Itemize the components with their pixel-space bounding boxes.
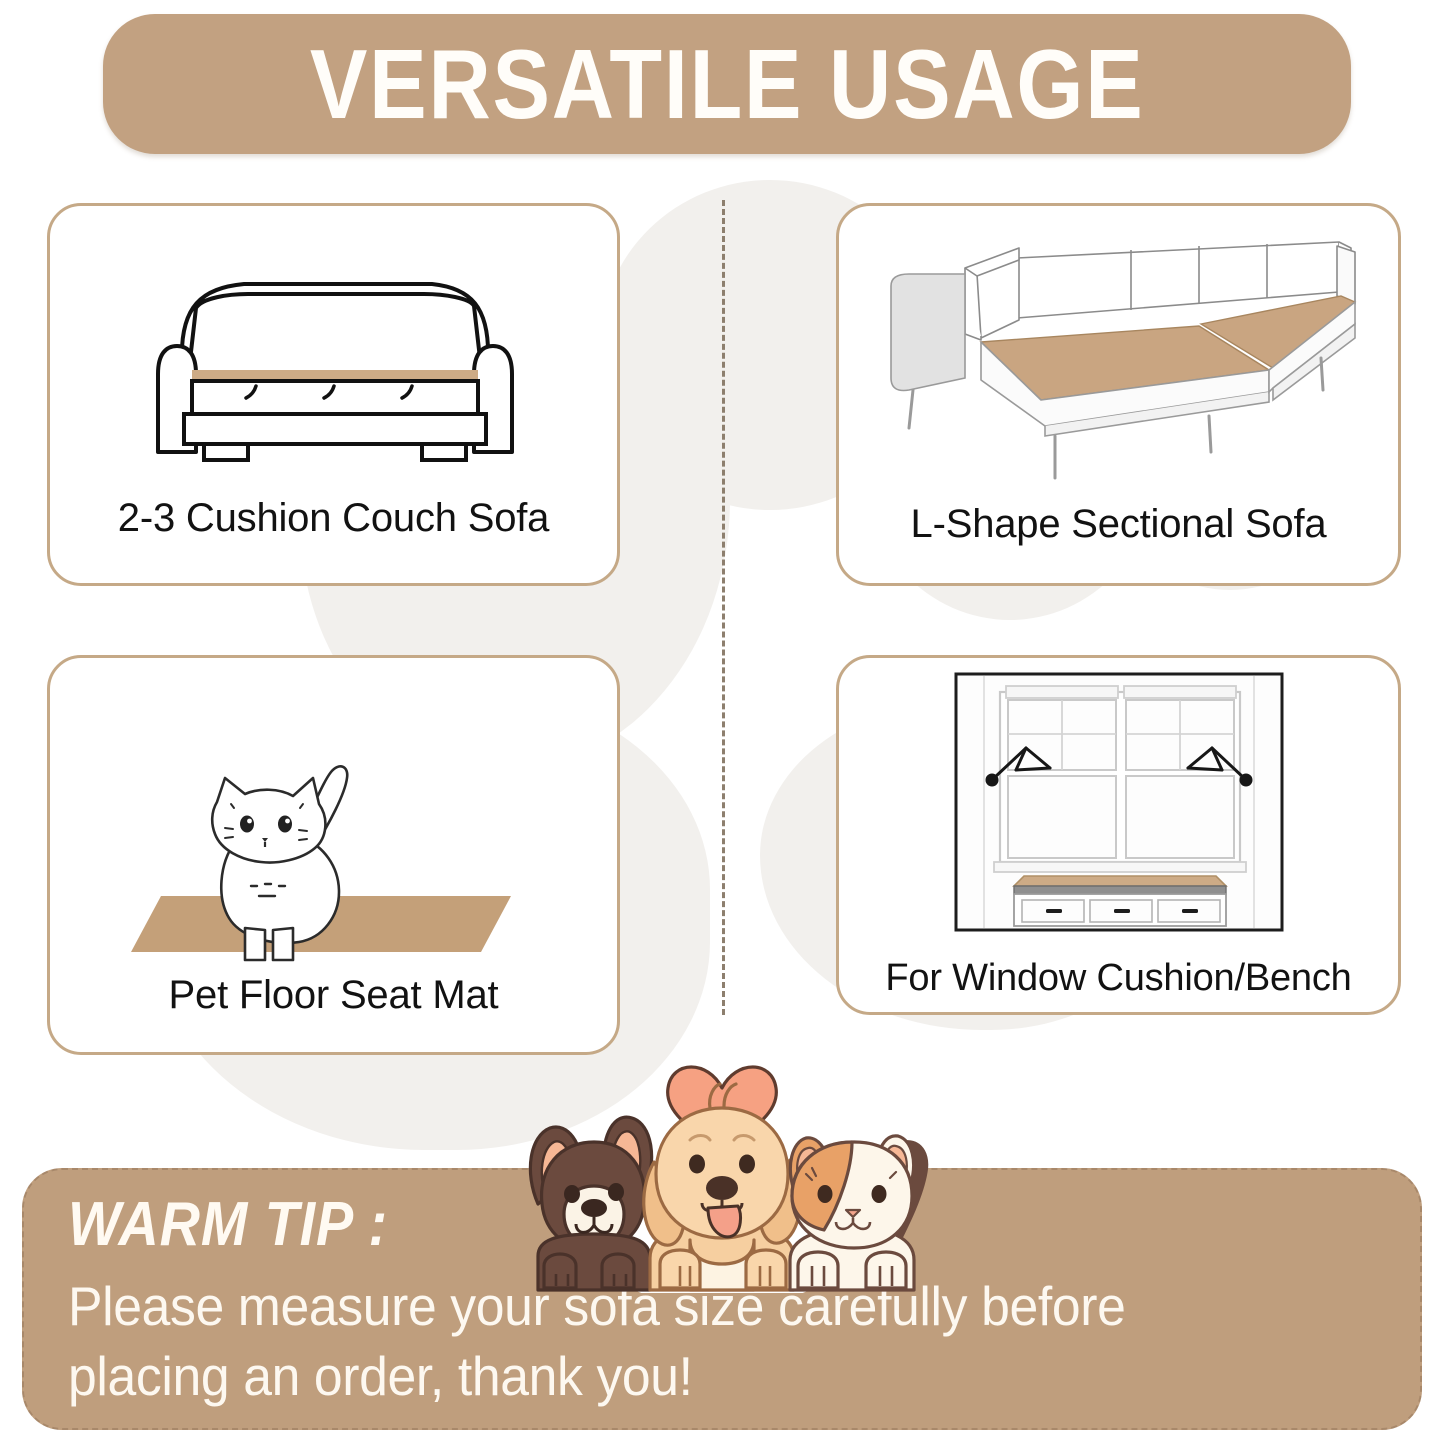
usage-card-l-shape-sectional[interactable]: L-Shape Sectional Sofa xyxy=(836,203,1401,586)
warm-tip-heading: WARM TIP : xyxy=(68,1192,1245,1257)
infographic-page: VERSATILE USAGE xyxy=(0,0,1445,1447)
card-label: For Window Cushion/Bench xyxy=(839,957,1398,1000)
page-title: VERSATILE USAGE xyxy=(310,35,1145,133)
card-label: L-Shape Sectional Sofa xyxy=(839,502,1398,547)
header-banner: VERSATILE USAGE xyxy=(103,14,1351,154)
usage-card-pet-floor-mat[interactable]: Pet Floor Seat Mat xyxy=(47,655,620,1055)
warm-tip-body: Please measure your sofa size carefully … xyxy=(68,1271,1298,1412)
usage-card-couch-sofa[interactable]: 2-3 Cushion Couch Sofa xyxy=(47,203,620,586)
vertical-dashed-divider xyxy=(722,200,725,1015)
card-label: Pet Floor Seat Mat xyxy=(50,973,617,1018)
card-label: 2-3 Cushion Couch Sofa xyxy=(50,496,617,541)
l-shape-sectional-illustration xyxy=(839,230,1398,480)
cat-on-mat-illustration xyxy=(50,716,617,966)
heart-icon xyxy=(668,1067,777,1150)
warm-tip-banner: WARM TIP : Please measure your sofa size… xyxy=(22,1168,1422,1430)
window-bench-illustration xyxy=(839,672,1398,940)
usage-card-window-bench[interactable]: For Window Cushion/Bench xyxy=(836,655,1401,1015)
couch-sofa-illustration xyxy=(50,266,617,476)
